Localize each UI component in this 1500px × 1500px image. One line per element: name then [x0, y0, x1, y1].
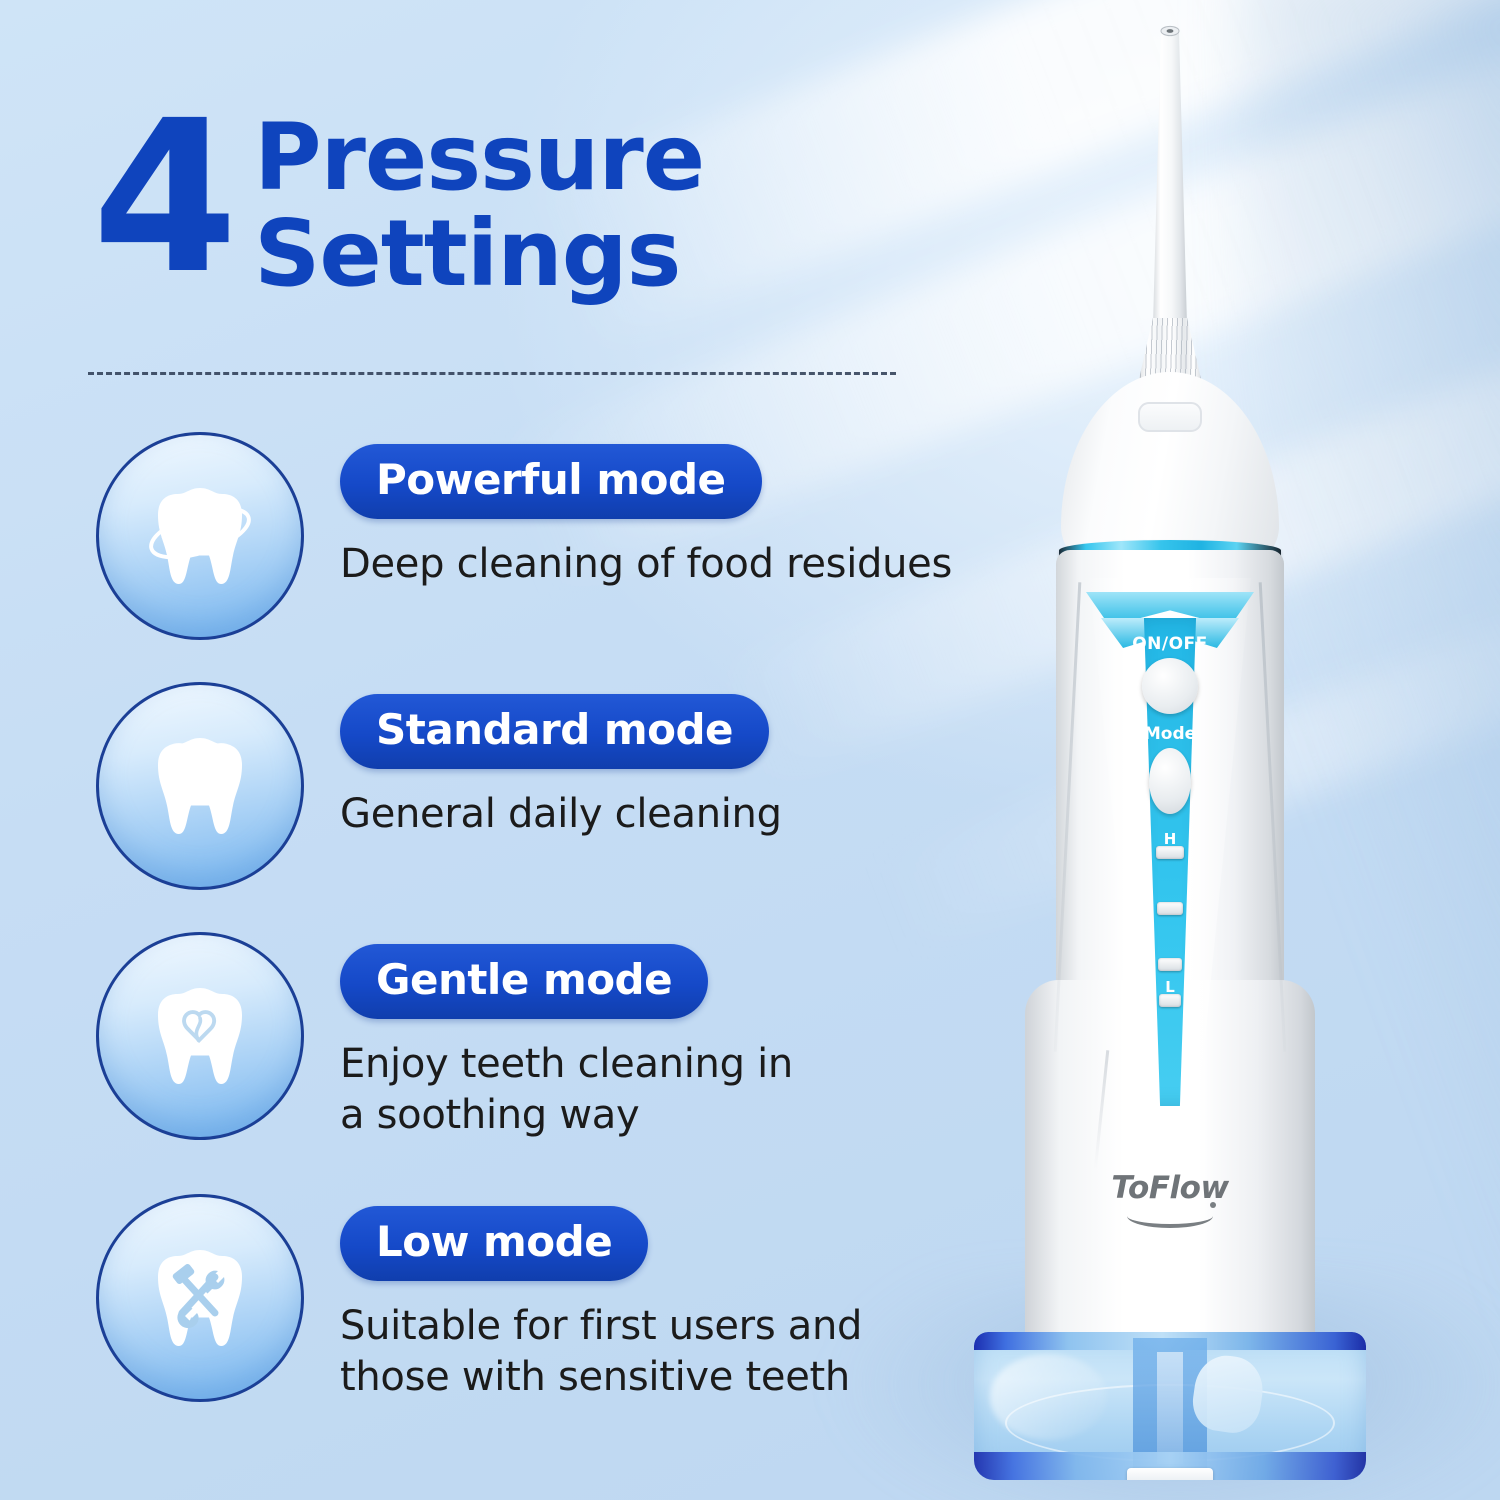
list-item: Low mode Suitable for first users and th… [96, 1194, 956, 1434]
product-image-water-flosser: ON/OFF Mode H L ToFlow [905, 0, 1435, 1500]
led-indicator-2 [1157, 902, 1183, 915]
mode-description-powerful: Deep cleaning of food residues [340, 539, 952, 590]
list-item: Standard mode General daily cleaning [96, 682, 956, 910]
tooth-sparkle-orbit-icon [96, 432, 304, 640]
brand-dot-icon [1210, 1202, 1216, 1208]
mode-description-low: Suitable for first users and those with … [340, 1301, 862, 1403]
infographic-canvas: 4 Pressure Settings Powerful mode Deep c… [0, 0, 1500, 1500]
mode-button[interactable] [1149, 748, 1191, 814]
dashed-divider [88, 372, 896, 375]
device-head-slot [1138, 402, 1202, 432]
tooth-tools-icon [96, 1194, 304, 1402]
feature-list: Powerful mode Deep cleaning of food resi… [96, 432, 956, 1456]
list-item: Gentle mode Enjoy teeth cleaning in a so… [96, 932, 956, 1172]
power-button[interactable] [1142, 658, 1198, 714]
mode-pill-low[interactable]: Low mode [340, 1206, 648, 1281]
led-indicator-4 [1159, 994, 1181, 1007]
list-item: Powerful mode Deep cleaning of food resi… [96, 432, 956, 660]
control-panel: ON/OFF Mode H L [1082, 578, 1258, 1108]
led-indicator-1 [1156, 846, 1184, 859]
mode-button-label: Mode [1082, 724, 1258, 744]
page-title: 4 Pressure Settings [92, 100, 704, 302]
brand-logo: ToFlow [1111, 1170, 1228, 1206]
mode-pill-gentle[interactable]: Gentle mode [340, 944, 708, 1019]
water-tank [974, 1332, 1366, 1480]
headline-number: 4 [92, 100, 232, 296]
led-indicator-3 [1158, 958, 1182, 971]
tooth-heart-icon [96, 932, 304, 1140]
headline-line-1: Pressure [254, 110, 704, 206]
tooth-plain-icon [96, 682, 304, 890]
nozzle-tip-icon [1135, 22, 1205, 336]
headline-line-2: Settings [254, 206, 704, 302]
tank-drain-cap[interactable] [1127, 1468, 1213, 1480]
mode-pill-standard[interactable]: Standard mode [340, 694, 769, 769]
power-button-label: ON/OFF [1082, 634, 1258, 654]
mode-description-gentle: Enjoy teeth cleaning in a soothing way [340, 1039, 793, 1141]
brand-smile-icon [1127, 1204, 1213, 1228]
tank-highlight [990, 1354, 1108, 1440]
mode-pill-powerful[interactable]: Powerful mode [340, 444, 762, 519]
mode-description-standard: General daily cleaning [340, 789, 782, 840]
